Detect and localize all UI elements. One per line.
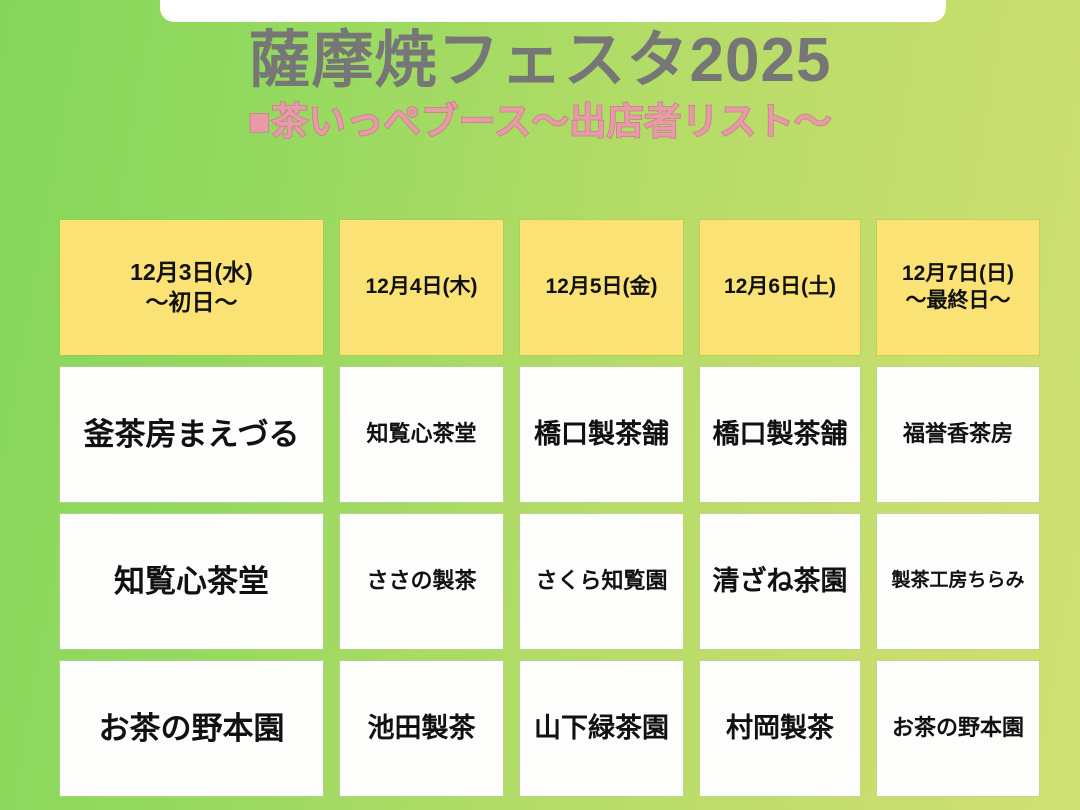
top-white-card <box>160 0 946 22</box>
date-header-col-3: 12月5日(金) <box>520 220 683 355</box>
vendor-cell-r3c1: お茶の野本園 <box>60 661 323 796</box>
vendor-cell-r1c4: 橋口製茶舗 <box>700 367 860 502</box>
page-title: 薩摩焼フェスタ2025 <box>0 26 1080 95</box>
date-label-col-1: 12月3日(水) <box>130 258 253 287</box>
vendor-cell-r2c1: 知覧心茶堂 <box>60 514 323 649</box>
table-row: 知覧心茶堂 ささの製茶 さくら知覧園 清ざね茶園 製茶工房ちらみ <box>60 514 1040 649</box>
vendor-cell-r1c3: 橋口製茶舗 <box>520 367 683 502</box>
date-header-col-2: 12月4日(木) <box>340 220 503 355</box>
vendor-cell-r1c1: 釜茶房まえづる <box>60 367 323 502</box>
table-row: 釜茶房まえづる 知覧心茶堂 橋口製茶舗 橋口製茶舗 福誉香茶房 <box>60 367 1040 502</box>
date-note-col-5: ～最終日～ <box>902 288 1014 315</box>
vendor-cell-r1c2: 知覧心茶堂 <box>340 367 503 502</box>
vendor-cell-r3c5: お茶の野本園 <box>877 661 1039 796</box>
vendor-cell-r1c5: 福誉香茶房 <box>877 367 1039 502</box>
poster-title-block: 薩摩焼フェスタ2025 ■茶いっぺブース～出店者リスト～ <box>0 26 1080 144</box>
date-header-col-5: 12月7日(日) ～最終日～ <box>877 220 1039 355</box>
table-header-row: 12月3日(水) ～初日～ 12月4日(木) 12月5日(金) 12月6日(土)… <box>60 220 1040 355</box>
vendor-cell-r2c5: 製茶工房ちらみ <box>877 514 1039 649</box>
vendor-cell-r2c4: 清ざね茶園 <box>700 514 860 649</box>
vendor-cell-r3c4: 村岡製茶 <box>700 661 860 796</box>
page-subtitle: ■茶いっぺブース～出店者リスト～ <box>0 101 1080 144</box>
vendor-cell-r2c2: ささの製茶 <box>340 514 503 649</box>
vendor-cell-r3c3: 山下緑茶園 <box>520 661 683 796</box>
vendor-cell-r2c3: さくら知覧園 <box>520 514 683 649</box>
table-row: お茶の野本園 池田製茶 山下緑茶園 村岡製茶 お茶の野本園 <box>60 661 1040 796</box>
vendor-cell-r3c2: 池田製茶 <box>340 661 503 796</box>
date-header-col-1: 12月3日(水) ～初日～ <box>60 220 323 355</box>
date-header-col-4: 12月6日(土) <box>700 220 860 355</box>
date-label-col-2: 12月4日(木) <box>365 274 477 301</box>
vendor-schedule-table: 12月3日(水) ～初日～ 12月4日(木) 12月5日(金) 12月6日(土)… <box>60 220 1040 808</box>
date-note-col-1: ～初日～ <box>130 288 253 317</box>
date-label-col-5: 12月7日(日) <box>902 261 1014 288</box>
date-label-col-3: 12月5日(金) <box>545 274 657 301</box>
date-label-col-4: 12月6日(土) <box>724 274 836 301</box>
